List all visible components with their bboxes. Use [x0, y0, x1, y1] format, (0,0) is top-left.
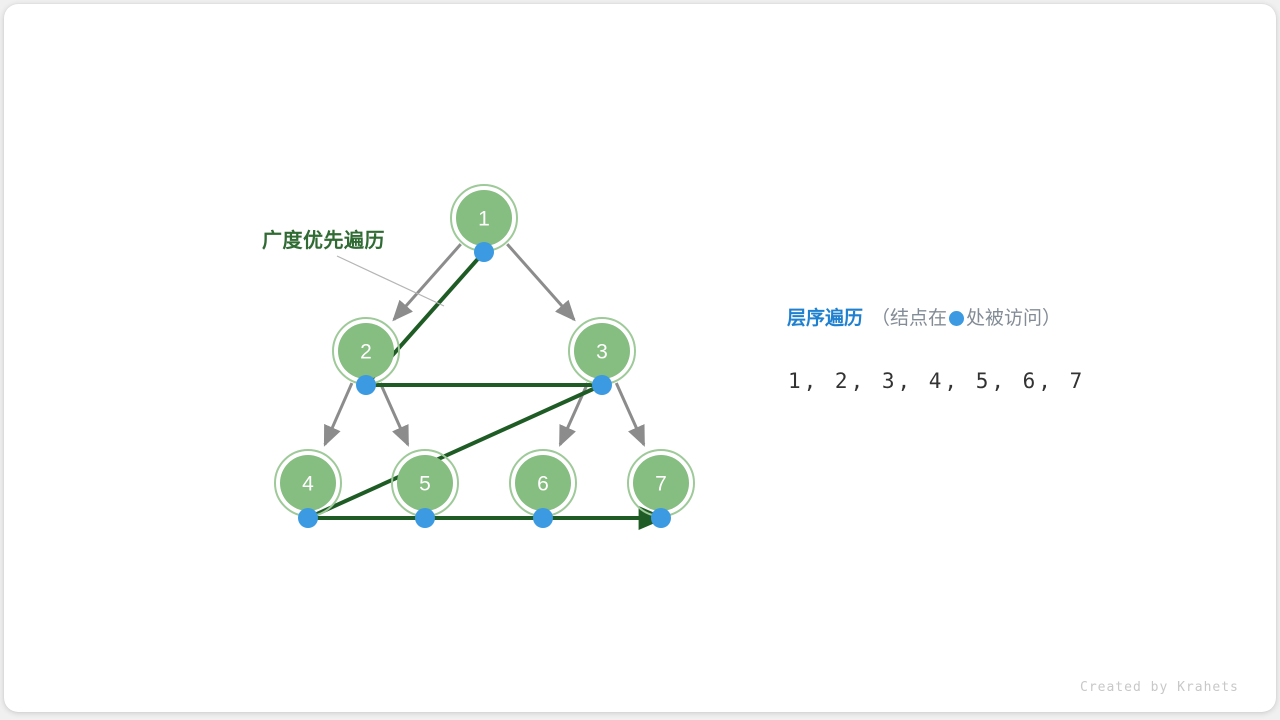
tree-edge-3-7 [616, 383, 644, 445]
screenshot-stage: 1234567 广度优先遍历 层序遍历（结点在处被访问） 1, 2, 3, 4,… [0, 0, 1280, 720]
tree-node-2: 2 [333, 318, 399, 384]
tree-node-1: 1 [451, 185, 517, 251]
visit-dot-1 [474, 242, 494, 262]
node-label-4: 4 [302, 473, 314, 496]
legend-description-suffix: 处被访问） [966, 308, 1061, 329]
traversal-sequence-text: 1, 2, 3, 4, 5, 6, 7 [788, 369, 1085, 393]
visit-dot-icon [949, 311, 964, 326]
legend-description-prefix: （结点在 [871, 308, 947, 329]
tree-edge-1-3 [507, 244, 574, 319]
tree-edge-2-5 [380, 383, 408, 445]
tree-node-4: 4 [275, 450, 341, 516]
node-label-7: 7 [655, 473, 667, 496]
visit-dot-3 [592, 375, 612, 395]
tree-node-3: 3 [569, 318, 635, 384]
legend-title: 层序遍历 [787, 308, 863, 329]
visit-dot-6 [533, 508, 553, 528]
tree-edge-1-2 [394, 244, 461, 319]
visit-dot-7 [651, 508, 671, 528]
tree-node-5: 5 [392, 450, 458, 516]
binary-tree-diagram: 1234567 [4, 4, 1276, 712]
node-label-3: 3 [596, 341, 608, 364]
bfs-annotation-label: 广度优先遍历 [262, 224, 385, 253]
content-card: 1234567 广度优先遍历 层序遍历（结点在处被访问） 1, 2, 3, 4,… [4, 4, 1276, 712]
node-label-5: 5 [419, 473, 431, 496]
tree-node-6: 6 [510, 450, 576, 516]
tree-node-7: 7 [628, 450, 694, 516]
legend-caption: 层序遍历（结点在处被访问） [787, 309, 1061, 328]
visit-dot-5 [415, 508, 435, 528]
tree-edge-2-4 [325, 383, 352, 445]
visit-dot-2 [356, 375, 376, 395]
node-label-2: 2 [360, 341, 372, 364]
visit-dot-4 [298, 508, 318, 528]
watermark-credit: Created by Krahets [1080, 680, 1239, 695]
node-label-1: 1 [478, 208, 490, 231]
node-label-6: 6 [537, 473, 549, 496]
